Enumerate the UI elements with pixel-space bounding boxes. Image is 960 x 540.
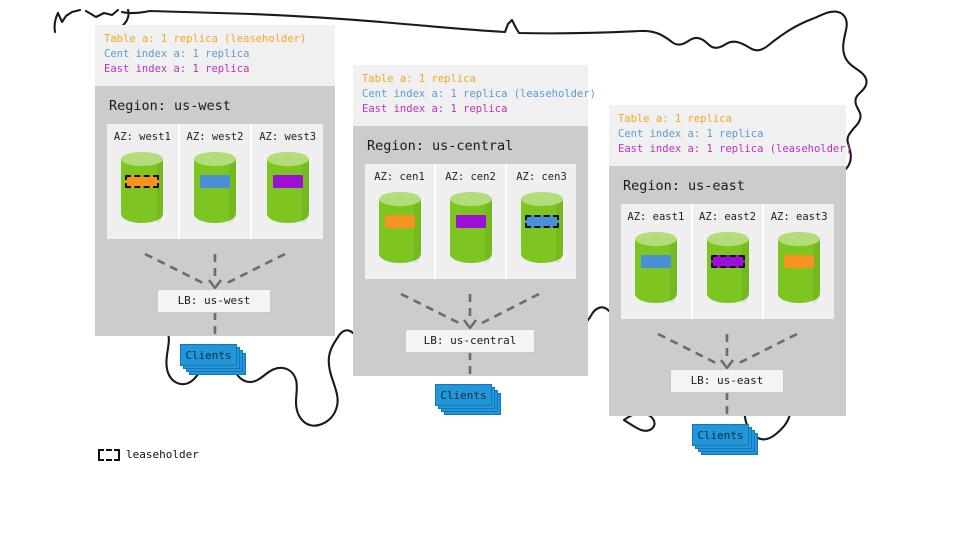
az-label-cen1: AZ: cen1 (365, 171, 434, 183)
replica-line-east-index-a: East index a: 1 replica (104, 62, 326, 77)
az-cell-cen3[interactable]: AZ: cen3 (507, 164, 576, 279)
cylinder-shade (813, 239, 820, 303)
az-label-east3: AZ: east3 (764, 211, 834, 223)
az-cell-west1[interactable]: AZ: west1 (107, 124, 180, 239)
cylinder-shade (302, 159, 309, 223)
az-label-west1: AZ: west1 (107, 131, 178, 143)
connector-az1-to-lb (401, 294, 461, 324)
az-label-cen2: AZ: cen2 (436, 171, 505, 183)
load-balancer-us-west[interactable]: LB: us-west (157, 289, 271, 313)
replica-chip-cent-index-a-leaseholder[interactable] (525, 215, 559, 228)
clients-stack-us-east[interactable]: Clients (692, 424, 760, 456)
replica-line-table-a: Table a: 1 replica (leaseholder) (104, 32, 326, 47)
replica-chip-east-index-a-leaseholder[interactable] (711, 255, 745, 268)
cylinder-shade (485, 199, 492, 263)
az-cell-west3[interactable]: AZ: west3 (252, 124, 323, 239)
cylinder-top (121, 152, 163, 166)
node-cylinder-cen2[interactable] (450, 192, 492, 266)
replica-legend-us-east: Table a: 1 replica Cent index a: 1 repli… (609, 105, 846, 166)
connector-arrowhead-lb (464, 320, 476, 328)
az-cell-east3[interactable]: AZ: east3 (764, 204, 834, 319)
replica-line-table-a: Table a: 1 replica (618, 112, 837, 127)
connector-az3-to-lb (225, 254, 285, 284)
az-label-east1: AZ: east1 (621, 211, 691, 223)
node-cylinder-east2[interactable] (707, 232, 749, 306)
clients-label-us-central[interactable]: Clients (435, 384, 492, 406)
az-strip-us-central: AZ: cen1 AZ: cen2 (365, 164, 576, 279)
replica-chip-table-a[interactable] (784, 255, 814, 268)
load-balancer-us-east[interactable]: LB: us-east (670, 369, 784, 393)
replica-line-table-a: Table a: 1 replica (362, 72, 579, 87)
cylinder-shade (742, 239, 749, 303)
az-label-west3: AZ: west3 (252, 131, 323, 143)
node-cylinder-west3[interactable] (267, 152, 309, 226)
az-cell-east1[interactable]: AZ: east1 (621, 204, 693, 319)
cylinder-top (194, 152, 236, 166)
clients-label-us-west[interactable]: Clients (180, 344, 237, 366)
region-body-us-east: Region: us-east AZ: east1 AZ: east2 (609, 166, 846, 416)
az-label-west2: AZ: west2 (180, 131, 251, 143)
replica-chip-east-index-a[interactable] (273, 175, 303, 188)
connector-az3-to-lb (737, 334, 797, 364)
replica-chip-table-a[interactable] (385, 215, 415, 228)
cylinder-shade (556, 199, 563, 263)
legend-leaseholder: leaseholder (98, 448, 199, 461)
cylinder-top (379, 192, 421, 206)
replica-line-cent-index-a: Cent index a: 1 replica (104, 47, 326, 62)
cylinder-shade (670, 239, 677, 303)
legend-leaseholder-label: leaseholder (126, 448, 199, 461)
clients-stack-us-central[interactable]: Clients (435, 384, 503, 416)
replica-line-cent-index-a: Cent index a: 1 replica (leaseholder) (362, 87, 579, 102)
az-label-cen3: AZ: cen3 (507, 171, 576, 183)
connector-az1-to-lb (145, 254, 205, 284)
cylinder-top (450, 192, 492, 206)
replica-line-cent-index-a: Cent index a: 1 replica (618, 127, 837, 142)
node-cylinder-west1[interactable] (121, 152, 163, 226)
replica-chip-east-index-a[interactable] (456, 215, 486, 228)
region-title-us-central: Region: us-central (353, 126, 588, 164)
replica-chip-cent-index-a[interactable] (200, 175, 230, 188)
region-panel-us-east: Table a: 1 replica Cent index a: 1 repli… (609, 105, 846, 416)
connector-arrowhead-lb (721, 360, 733, 368)
replica-chip-cent-index-a[interactable] (641, 255, 671, 268)
az-cell-cen2[interactable]: AZ: cen2 (436, 164, 507, 279)
cylinder-top (707, 232, 749, 246)
connector-az1-to-lb (658, 334, 718, 364)
diagram-canvas: Table a: 1 replica (leaseholder) Cent in… (0, 0, 960, 540)
cylinder-top (521, 192, 563, 206)
replica-chip-table-a-leaseholder[interactable] (125, 175, 159, 188)
clients-stack-us-west[interactable]: Clients (180, 344, 248, 376)
cylinder-shade (229, 159, 236, 223)
az-label-east2: AZ: east2 (693, 211, 763, 223)
region-title-us-west: Region: us-west (95, 86, 335, 124)
cylinder-shade (157, 159, 164, 223)
clients-label-us-east[interactable]: Clients (692, 424, 749, 446)
connector-az3-to-lb (480, 294, 539, 324)
region-body-us-west: Region: us-west AZ: west1 AZ: west2 (95, 86, 335, 336)
node-cylinder-east3[interactable] (778, 232, 820, 306)
cylinder-shade (414, 199, 421, 263)
node-cylinder-east1[interactable] (635, 232, 677, 306)
region-body-us-central: Region: us-central AZ: cen1 AZ: cen2 (353, 126, 588, 376)
node-cylinder-west2[interactable] (194, 152, 236, 226)
region-title-us-east: Region: us-east (609, 166, 846, 204)
az-cell-west2[interactable]: AZ: west2 (180, 124, 253, 239)
replica-legend-us-central: Table a: 1 replica Cent index a: 1 repli… (353, 65, 588, 126)
node-cylinder-cen1[interactable] (379, 192, 421, 266)
node-cylinder-cen3[interactable] (521, 192, 563, 266)
cylinder-top (778, 232, 820, 246)
region-panel-us-central: Table a: 1 replica Cent index a: 1 repli… (353, 65, 588, 376)
az-strip-us-east: AZ: east1 AZ: east2 (621, 204, 834, 319)
az-cell-east2[interactable]: AZ: east2 (693, 204, 765, 319)
replica-line-east-index-a: East index a: 1 replica (leaseholder) (618, 142, 837, 157)
us-map-gulf-detail (624, 413, 655, 431)
dashed-box-swatch-icon (98, 449, 120, 461)
az-strip-us-west: AZ: west1 AZ: west2 (107, 124, 323, 239)
replica-line-east-index-a: East index a: 1 replica (362, 102, 579, 117)
cylinder-top (635, 232, 677, 246)
az-cell-cen1[interactable]: AZ: cen1 (365, 164, 436, 279)
replica-legend-us-west: Table a: 1 replica (leaseholder) Cent in… (95, 25, 335, 86)
cylinder-top (267, 152, 309, 166)
load-balancer-us-central[interactable]: LB: us-central (405, 329, 535, 353)
connector-arrowhead-lb (209, 280, 221, 288)
region-panel-us-west: Table a: 1 replica (leaseholder) Cent in… (95, 25, 335, 336)
